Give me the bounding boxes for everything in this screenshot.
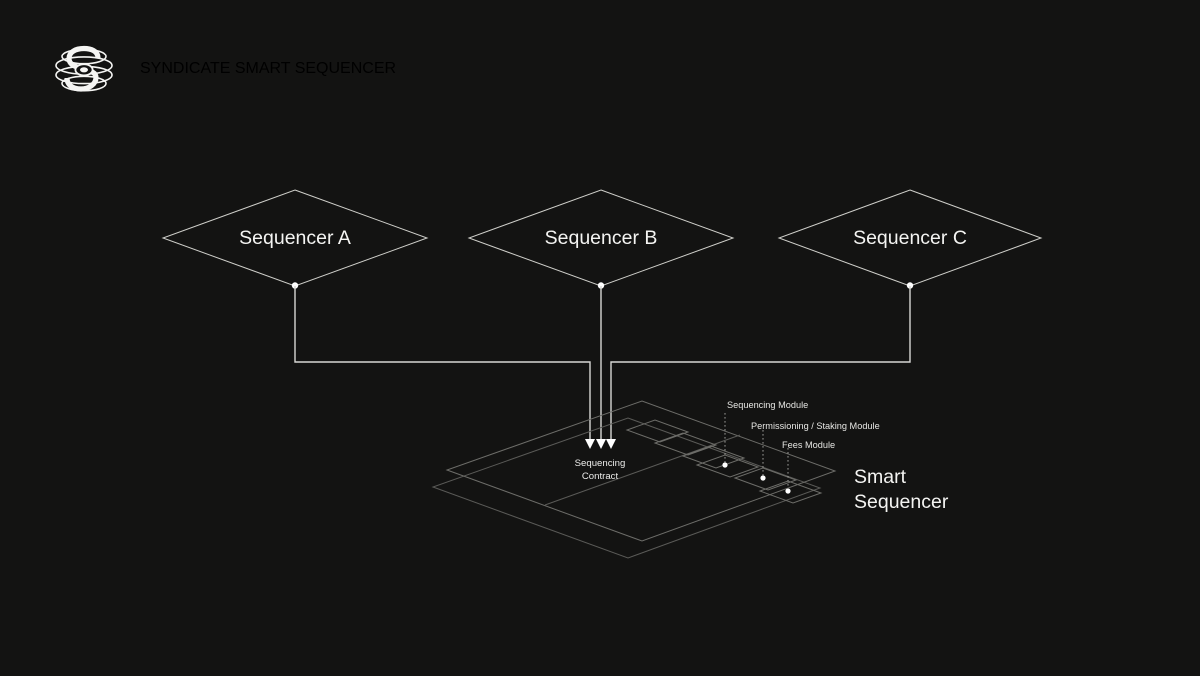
platform-title-line-2: Sequencer (854, 491, 949, 513)
module-label-permissioning-staking: Permissioning / Staking Module (751, 421, 880, 431)
module-slot-upper-2[interactable] (655, 433, 716, 455)
node-sequencer-c[interactable]: Sequencer C (779, 190, 1041, 289)
module-label-sequencing: Sequencing Module (727, 400, 808, 410)
module-dot-fees (785, 488, 790, 493)
edge-bus-lines (295, 286, 910, 440)
sequencer-b-label: Sequencer B (545, 227, 658, 249)
module-label-fees: Fees Module (782, 440, 835, 450)
architecture-diagram: Sequencer A Sequencer B Sequencer C (0, 0, 1200, 676)
module-dot-sequencing (722, 462, 727, 467)
module-tile-fees[interactable] (760, 481, 821, 503)
arrow-head-b (596, 439, 606, 449)
node-sequencer-b[interactable]: Sequencer B (469, 190, 733, 289)
sequencer-c-label: Sequencer C (853, 227, 967, 249)
module-slot-upper-1[interactable] (627, 420, 688, 442)
node-sequencer-a[interactable]: Sequencer A (163, 190, 427, 289)
contract-arrowheads (585, 439, 616, 449)
arrow-head-a (585, 439, 595, 449)
sequencing-contract-label-line-2: Contract (582, 471, 619, 482)
module-tile-permissioning-staking[interactable] (735, 468, 796, 490)
module-tile-sequencing[interactable] (697, 455, 758, 477)
sequencing-contract-label-line-1: Sequencing (575, 458, 626, 469)
platform-title-line-1: Smart (854, 466, 907, 488)
sequencer-a-label: Sequencer A (239, 227, 351, 249)
arrow-head-c (606, 439, 616, 449)
module-dot-permissioning-staking (760, 475, 765, 480)
edge-sequencer-a-to-contract (295, 286, 590, 440)
slide-canvas: SYNDICATE SMART SEQUENCER Sequencer A Se… (0, 0, 1200, 676)
edge-sequencer-c-to-contract (611, 286, 910, 440)
